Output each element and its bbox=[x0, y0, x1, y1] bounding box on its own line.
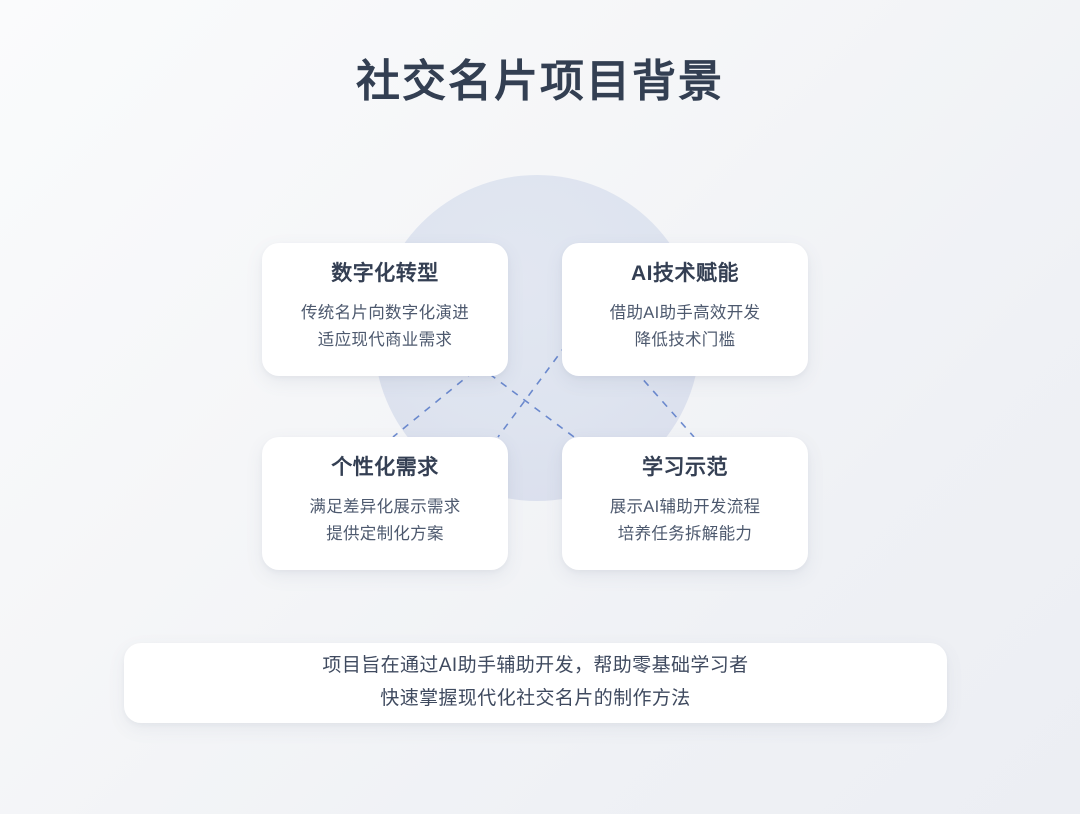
summary-banner: 项目旨在通过AI助手辅助开发，帮助零基础学习者 快速掌握现代化社交名片的制作方法 bbox=[124, 643, 947, 723]
summary-line: 项目旨在通过AI助手辅助开发，帮助零基础学习者 bbox=[322, 650, 748, 683]
card-title: AI技术赋能 bbox=[631, 261, 739, 287]
card-body: 传统名片向数字化演进 适应现代商业需求 bbox=[301, 300, 469, 353]
card-line: 展示AI辅助开发流程 bbox=[610, 494, 761, 521]
summary-line: 快速掌握现代化社交名片的制作方法 bbox=[380, 683, 690, 716]
card-line: 满足差异化展示需求 bbox=[309, 494, 460, 521]
card-line: 传统名片向数字化演进 bbox=[301, 300, 469, 327]
card-title: 个性化需求 bbox=[331, 455, 439, 481]
card-ai-empowerment[interactable]: AI技术赋能 借助AI助手高效开发 降低技术门槛 bbox=[562, 243, 808, 376]
card-digital-transformation[interactable]: 数字化转型 传统名片向数字化演进 适应现代商业需求 bbox=[262, 243, 508, 376]
card-line: 降低技术门槛 bbox=[610, 327, 761, 354]
card-personalization[interactable]: 个性化需求 满足差异化展示需求 提供定制化方案 bbox=[262, 437, 508, 570]
card-body: 借助AI助手高效开发 降低技术门槛 bbox=[610, 300, 761, 353]
slide-root: 社交名片项目背景 数字化转型 传统名片向数字化演进 适应现代商业需求 AI技术赋… bbox=[0, 0, 1080, 814]
card-line: 适应现代商业需求 bbox=[301, 327, 469, 354]
card-line: 借助AI助手高效开发 bbox=[610, 300, 761, 327]
page-title: 社交名片项目背景 bbox=[0, 56, 1080, 109]
card-line: 培养任务拆解能力 bbox=[610, 521, 761, 548]
card-title: 数字化转型 bbox=[331, 261, 439, 287]
card-title: 学习示范 bbox=[642, 455, 728, 481]
card-body: 展示AI辅助开发流程 培养任务拆解能力 bbox=[610, 494, 761, 547]
card-body: 满足差异化展示需求 提供定制化方案 bbox=[309, 494, 460, 547]
card-learning-demo[interactable]: 学习示范 展示AI辅助开发流程 培养任务拆解能力 bbox=[562, 437, 808, 570]
card-line: 提供定制化方案 bbox=[309, 521, 460, 548]
